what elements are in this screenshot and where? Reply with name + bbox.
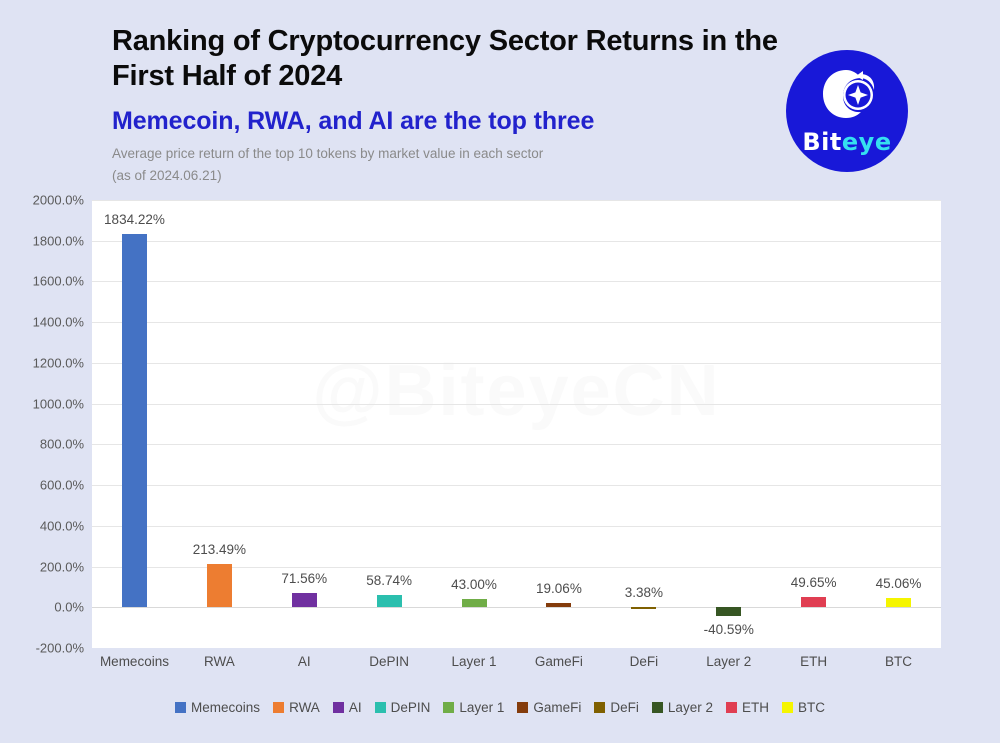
biteye-logo: Biteye	[786, 50, 908, 172]
as-of-date-note: (as of 2024.06.21)	[112, 166, 812, 186]
gridline	[92, 241, 941, 242]
sub-headline: Memecoin, RWA, and AI are the top three	[112, 107, 812, 136]
logo-wordmark: Biteye	[786, 128, 908, 156]
legend-label: AI	[349, 700, 362, 715]
bar-value-label: 1834.22%	[79, 212, 189, 227]
legend-swatch-icon	[517, 702, 528, 713]
legend-swatch-icon	[594, 702, 605, 713]
biteye-crescent-star-icon	[816, 66, 878, 129]
legend-swatch-icon	[443, 702, 454, 713]
legend-label: BTC	[798, 700, 825, 715]
bar-depin[interactable]	[377, 595, 402, 607]
legend-label: DeFi	[610, 700, 639, 715]
bar-eth[interactable]	[801, 597, 826, 607]
legend-item-btc[interactable]: BTC	[782, 700, 825, 715]
y-axis-tick-label: 200.0%	[0, 559, 84, 574]
bar-value-label: 213.49%	[164, 542, 274, 557]
y-axis-tick-label: 1200.0%	[0, 355, 84, 370]
chart-plot-area: @BiteyeCN 1834.22%213.49%71.56%58.74%43.…	[92, 200, 941, 648]
y-axis-tick-label: 1400.0%	[0, 315, 84, 330]
legend-label: Memecoins	[191, 700, 260, 715]
legend-swatch-icon	[652, 702, 663, 713]
legend-label: RWA	[289, 700, 320, 715]
legend-item-defi[interactable]: DeFi	[594, 700, 639, 715]
x-axis-tick-label: BTC	[844, 654, 954, 669]
legend-item-gamefi[interactable]: GameFi	[517, 700, 581, 715]
methodology-note: Average price return of the top 10 token…	[112, 144, 812, 164]
chart-legend: MemecoinsRWAAIDePINLayer 1GameFiDeFiLaye…	[0, 700, 1000, 715]
legend-item-ai[interactable]: AI	[333, 700, 362, 715]
gridline	[92, 322, 941, 323]
gridline	[92, 200, 941, 201]
gridline	[92, 485, 941, 486]
bar-value-label: -40.59%	[674, 622, 784, 637]
legend-swatch-icon	[273, 702, 284, 713]
legend-label: ETH	[742, 700, 769, 715]
plot-canvas: @BiteyeCN 1834.22%213.49%71.56%58.74%43.…	[92, 200, 941, 648]
page-title: Ranking of Cryptocurrency Sector Returns…	[112, 24, 812, 95]
bar-layer-1[interactable]	[462, 599, 487, 608]
y-axis-tick-label: 2000.0%	[0, 193, 84, 208]
y-axis-tick-label: -200.0%	[0, 641, 84, 656]
logo-text-secondary: eye	[842, 128, 892, 156]
gridline	[92, 607, 941, 608]
y-axis-tick-label: 1800.0%	[0, 233, 84, 248]
y-axis-tick-label: 1600.0%	[0, 274, 84, 289]
legend-item-eth[interactable]: ETH	[726, 700, 769, 715]
y-axis-tick-label: 0.0%	[0, 600, 84, 615]
legend-label: GameFi	[533, 700, 581, 715]
bar-value-label: 45.06%	[844, 576, 954, 591]
legend-item-layer-1[interactable]: Layer 1	[443, 700, 504, 715]
legend-swatch-icon	[726, 702, 737, 713]
bar-value-label: 3.38%	[589, 585, 699, 600]
gridline	[92, 281, 941, 282]
legend-item-rwa[interactable]: RWA	[273, 700, 320, 715]
bar-rwa[interactable]	[207, 564, 232, 607]
legend-swatch-icon	[333, 702, 344, 713]
legend-item-memecoins[interactable]: Memecoins	[175, 700, 260, 715]
legend-item-layer-2[interactable]: Layer 2	[652, 700, 713, 715]
logo-text-primary: Bit	[802, 128, 842, 156]
bar-gamefi[interactable]	[546, 603, 571, 607]
legend-swatch-icon	[375, 702, 386, 713]
legend-label: Layer 1	[459, 700, 504, 715]
gridline	[92, 363, 941, 364]
chart-header: Ranking of Cryptocurrency Sector Returns…	[112, 24, 812, 186]
gridline	[92, 526, 941, 527]
bar-btc[interactable]	[886, 598, 911, 607]
bar-memecoins[interactable]	[122, 234, 147, 608]
legend-label: Layer 2	[668, 700, 713, 715]
legend-label: DePIN	[391, 700, 431, 715]
legend-swatch-icon	[175, 702, 186, 713]
gridline	[92, 444, 941, 445]
y-axis-tick-label: 600.0%	[0, 478, 84, 493]
legend-item-depin[interactable]: DePIN	[375, 700, 431, 715]
gridline	[92, 404, 941, 405]
bar-ai[interactable]	[292, 593, 317, 608]
y-axis-tick-label: 1000.0%	[0, 396, 84, 411]
bar-defi[interactable]	[631, 607, 656, 609]
bar-layer-2[interactable]	[716, 607, 741, 615]
y-axis-tick-label: 800.0%	[0, 437, 84, 452]
legend-swatch-icon	[782, 702, 793, 713]
y-axis-tick-label: 400.0%	[0, 518, 84, 533]
